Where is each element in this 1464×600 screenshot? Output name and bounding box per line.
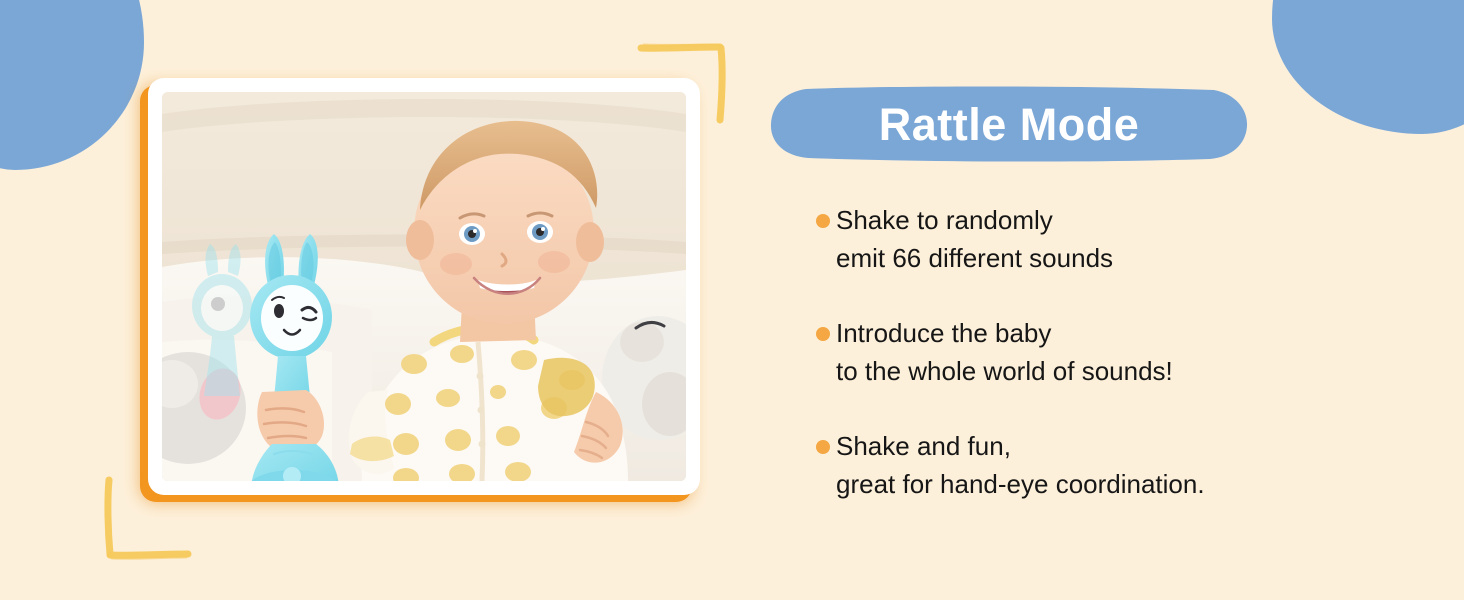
bullet-dot-icon — [816, 327, 830, 341]
product-photo-card — [148, 78, 700, 495]
feature-line-1: Shake to randomly — [836, 201, 1388, 239]
feature-line-2: emit 66 different sounds — [836, 239, 1388, 277]
feature-line-1: Shake and fun, — [836, 427, 1388, 465]
bullet-dot-icon — [816, 440, 830, 454]
list-item: Shake and fun, great for hand-eye coordi… — [768, 427, 1388, 503]
list-item: Introduce the baby to the whole world of… — [768, 314, 1388, 390]
feature-bullet-list: Shake to randomly emit 66 different soun… — [768, 201, 1388, 503]
feature-line-1: Introduce the baby — [836, 314, 1388, 352]
feature-line-2: great for hand-eye coordination. — [836, 465, 1388, 503]
title-badge: Rattle Mode — [768, 86, 1250, 162]
bullet-dot-icon — [816, 214, 830, 228]
product-feature-banner: Rattle Mode Shake to randomly emit 66 di… — [0, 0, 1464, 600]
list-item: Shake to randomly emit 66 different soun… — [768, 201, 1388, 277]
feature-line-2: to the whole world of sounds! — [836, 352, 1388, 390]
decorative-blob-top-left — [0, 0, 144, 170]
product-photo — [162, 92, 686, 481]
page-title: Rattle Mode — [879, 102, 1140, 147]
feature-content: Rattle Mode Shake to randomly emit 66 di… — [768, 86, 1388, 516]
